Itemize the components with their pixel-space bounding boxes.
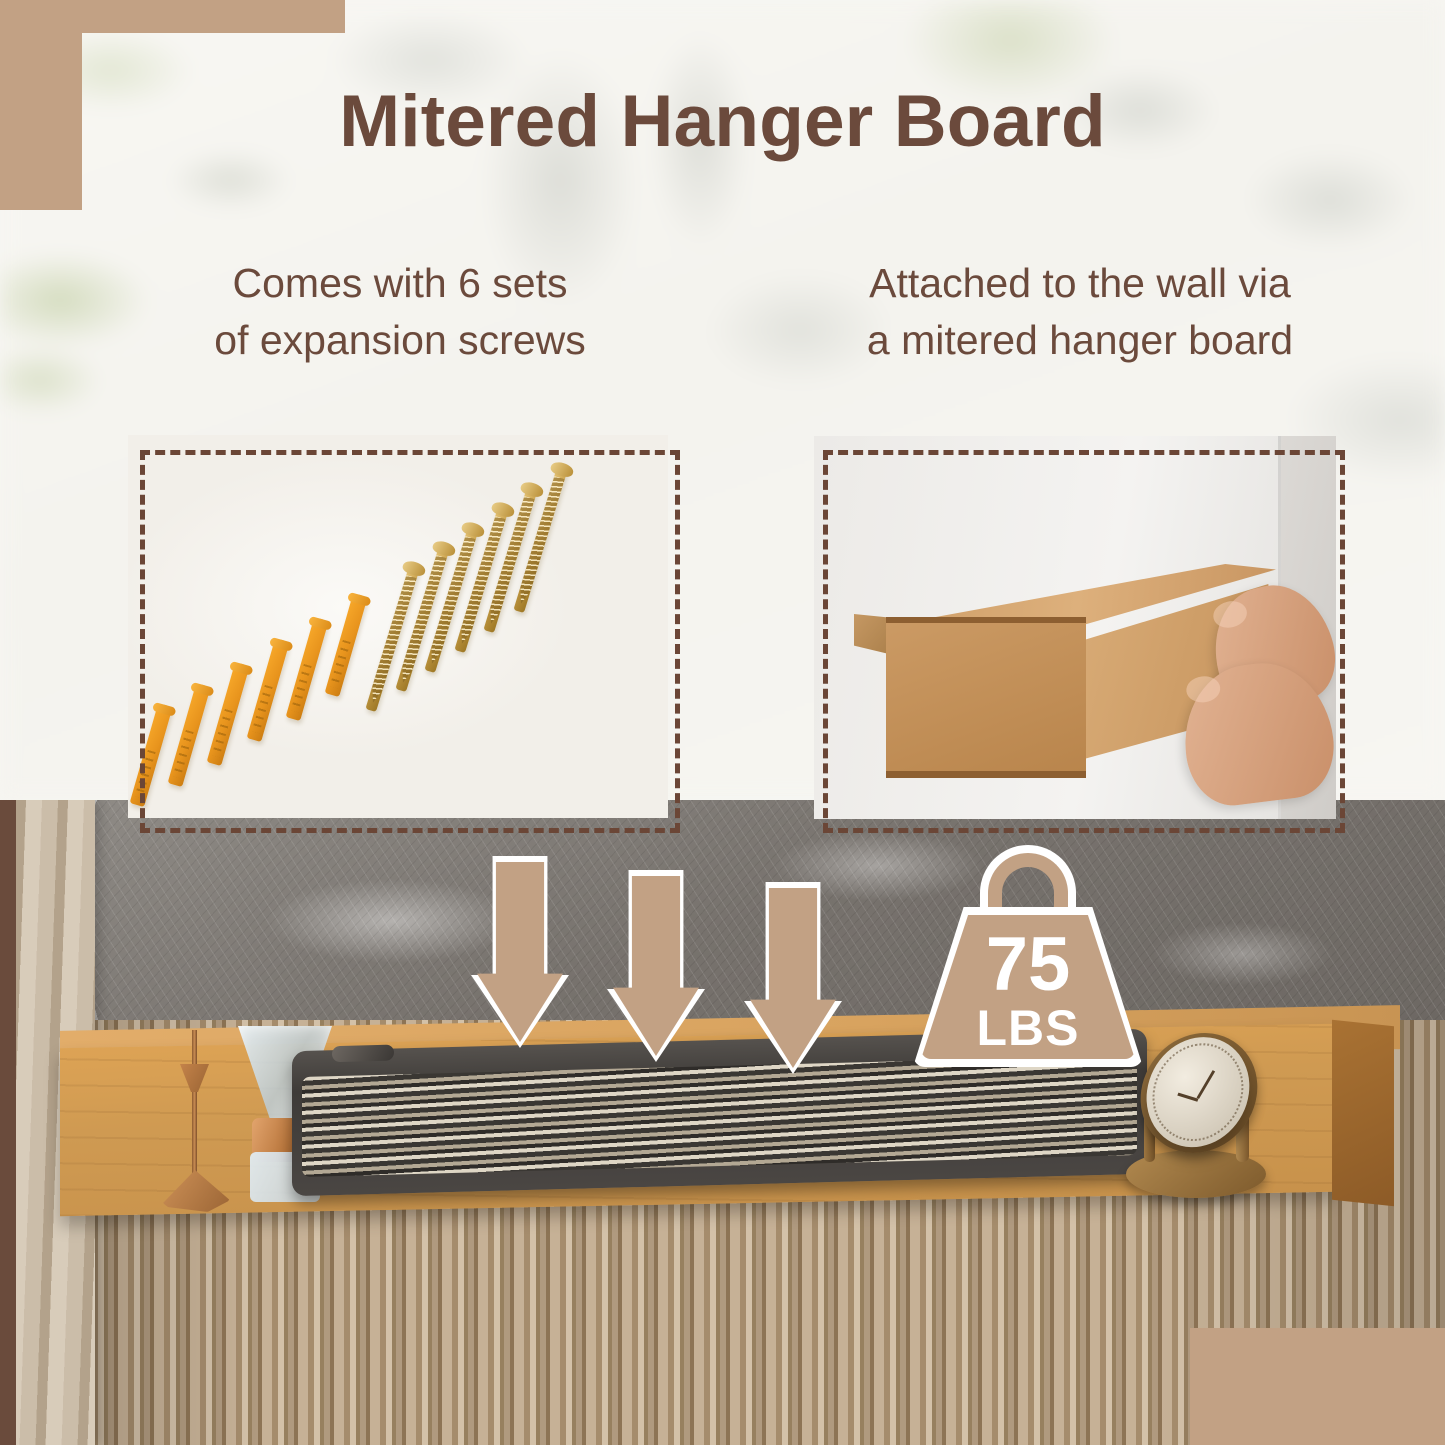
- caption-line-2: of expansion screws: [115, 312, 685, 369]
- caption-line-1: Comes with 6 sets: [115, 255, 685, 312]
- feature-caption-screws: Comes with 6 sets of expansion screws: [115, 255, 685, 368]
- feature-caption-hanger: Attached to the wall via a mitered hange…: [735, 255, 1425, 368]
- shelf-mitered-end: [1332, 1020, 1394, 1207]
- feature-photo-screws: [140, 450, 680, 833]
- wall-anchor: [325, 593, 368, 697]
- corner-ornament-bottom-right: [1190, 1328, 1445, 1445]
- wall-anchor: [247, 638, 290, 742]
- wall-edge-trim: [0, 800, 16, 1445]
- installed-floating-shelf: [60, 1018, 1390, 1203]
- weight-unit: LBS: [913, 1003, 1143, 1053]
- feature-photo-hanger: [823, 450, 1345, 833]
- wall-anchor: [286, 617, 329, 721]
- beam-front: [886, 617, 1086, 778]
- product-infographic-poster: Mitered Hanger Board Comes with 6 sets o…: [0, 0, 1445, 1445]
- wall-anchor: [168, 683, 211, 787]
- caption-line-2: a mitered hanger board: [735, 312, 1425, 369]
- hanger-photo: [814, 436, 1336, 819]
- caption-line-1: Attached to the wall via: [735, 255, 1425, 312]
- wall-anchor: [207, 662, 250, 766]
- weight-value: 75: [913, 927, 1143, 1003]
- wall-anchor: [130, 703, 173, 807]
- screws-photo: [128, 435, 668, 818]
- copper-candlestick: [160, 1030, 230, 1210]
- weight-capacity-badge: 75 LBS: [913, 845, 1143, 1067]
- page-title: Mitered Hanger Board: [0, 80, 1445, 163]
